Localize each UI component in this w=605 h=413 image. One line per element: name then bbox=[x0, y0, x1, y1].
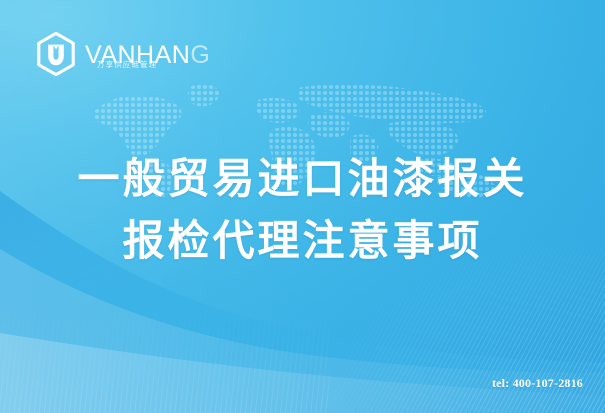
brand-logo[interactable]: VANHANG 万享供应链管理 bbox=[36, 32, 210, 76]
brand-wordmark-tail: G bbox=[190, 41, 210, 69]
brand-subtitle: 万享供应链管理 bbox=[97, 61, 157, 69]
page-title: 一般贸易进口油漆报关 报检代理注意事项 bbox=[0, 148, 605, 272]
vanhang-hexagon-u-logo-icon bbox=[36, 32, 76, 76]
headline-line-1: 一般贸易进口油漆报关 bbox=[0, 148, 605, 210]
contact-phone[interactable]: tel: 400-107-2816 bbox=[492, 376, 583, 391]
promo-banner: VANHANG 万享供应链管理 一般贸易进口油漆报关 报检代理注意事项 tel:… bbox=[0, 0, 605, 413]
brand-wordmark-group: VANHANG 万享供应链管理 bbox=[85, 41, 210, 68]
headline-line-2: 报检代理注意事项 bbox=[0, 210, 605, 272]
